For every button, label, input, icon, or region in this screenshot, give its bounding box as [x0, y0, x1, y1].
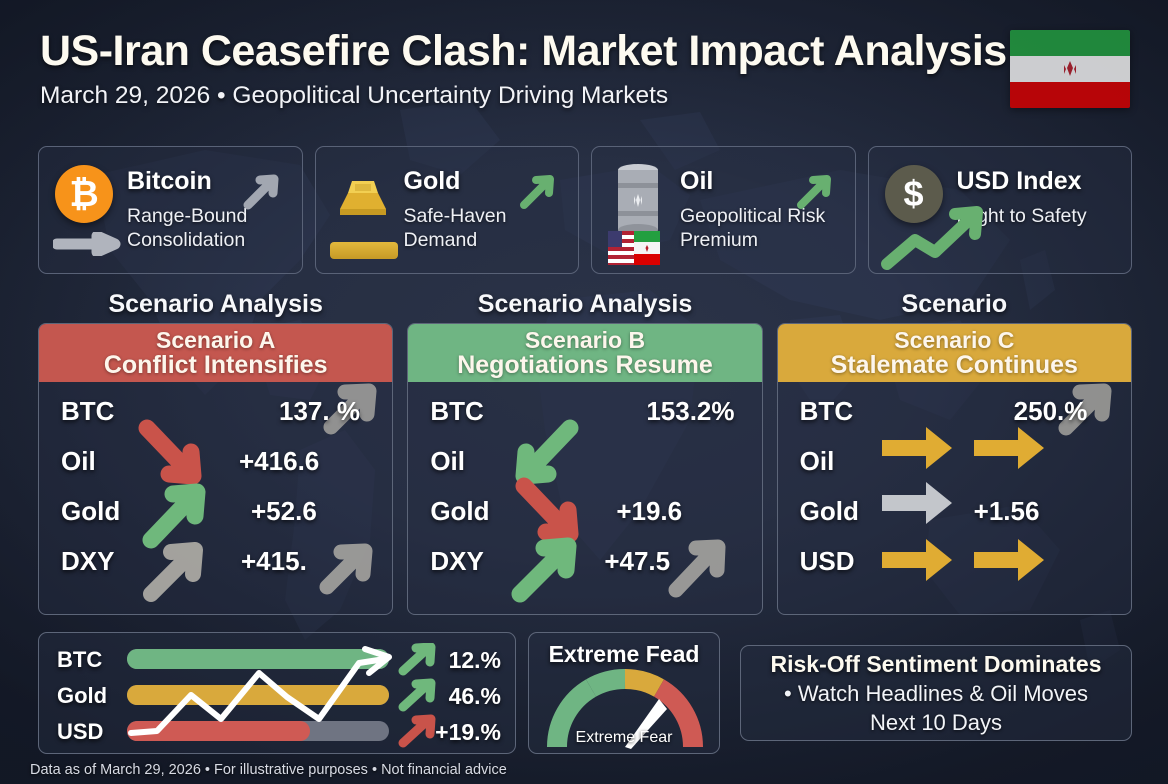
- scenario-head-line2: Conflict Intensifies: [104, 352, 328, 379]
- kpi-card-oil[interactable]: Oil Geopolitical Risk Premium: [591, 146, 856, 274]
- footer-disclaimer: Data as of March 29, 2026 • For illustra…: [30, 762, 507, 778]
- page-title: US-Iran Ceasefire Clash: Market Impact A…: [40, 28, 1130, 74]
- scenario-a-asset-1: Oil: [61, 446, 96, 477]
- arrow-up-right-icon: [789, 163, 841, 220]
- scenario-head-line2: Stalemate Continues: [831, 352, 1078, 379]
- scenario-header-a: Scenario A Conflict Intensifies: [39, 324, 392, 382]
- oil-barrel-icon: [610, 161, 666, 239]
- fear-greed-gauge-card[interactable]: Extreme Fead Extreme Fear: [528, 632, 720, 754]
- section-label-row: Scenario Analysis Scenario Analysis Scen…: [38, 290, 1132, 319]
- infographic-root: US-Iran Ceasefire Clash: Market Impact A…: [0, 0, 1168, 784]
- arrow-right-icon: [53, 232, 125, 261]
- scenario-head-line1: Scenario A: [156, 328, 275, 352]
- kpi-name: USD Index: [957, 167, 1082, 196]
- us-iran-flag-icon: [608, 231, 660, 265]
- note-line-1: • Watch Headlines & Oil Moves: [784, 681, 1088, 706]
- sentiment-note-card[interactable]: Risk-Off Sentiment Dominates • Watch Hea…: [740, 645, 1132, 741]
- kpi-name: Bitcoin: [127, 167, 212, 196]
- arrow-up-right-icon: [879, 202, 994, 274]
- header: US-Iran Ceasefire Clash: Market Impact A…: [40, 28, 1130, 110]
- chart-bar-track-btc: [127, 649, 389, 669]
- gauge-title: Extreme Fead: [529, 641, 719, 668]
- kpi-title-wrap: Oil: [680, 167, 713, 196]
- scenario-c-asset-3: USD: [800, 546, 855, 577]
- scenario-c-value-0: 250.%: [1014, 396, 1088, 427]
- section-label-c: Scenario: [777, 290, 1132, 319]
- kpi-name: Oil: [680, 167, 713, 196]
- scenario-body-c: BTC Oil Gold USD 250.% +1.56: [778, 382, 1131, 614]
- chart-bar-track-gold: [127, 685, 389, 705]
- scenario-b-asset-0: BTC: [430, 396, 483, 427]
- gold-bar-icon: [334, 169, 392, 221]
- section-label-a: Scenario Analysis: [38, 290, 393, 319]
- kpi-title-wrap: Bitcoin: [127, 167, 212, 196]
- scenario-b-value-0: 153.2%: [646, 396, 734, 427]
- scenario-body-a: BTC Oil Gold DXY 137. % +416.6 +52.6 +41…: [39, 382, 392, 614]
- chart-row-label-btc: BTC: [57, 647, 102, 673]
- scenario-head-line1: Scenario C: [894, 328, 1014, 352]
- scenario-c-asset-2: Gold: [800, 496, 859, 527]
- gauge-sub-label: Extreme Fear: [529, 729, 719, 747]
- scenario-head-line1: Scenario B: [525, 328, 645, 352]
- scenario-b-value-3: +47.5: [604, 546, 670, 577]
- scenario-b-asset-1: Oil: [430, 446, 465, 477]
- chart-row-label-usd: USD: [57, 719, 103, 745]
- bitcoin-icon: ₿: [55, 165, 113, 223]
- scenario-a-value-0: 137. %: [279, 396, 360, 427]
- scenario-row: Scenario A Conflict Intensifies BTC Oil …: [38, 323, 1132, 615]
- scenario-b-value-2: +19.6: [616, 496, 682, 527]
- kpi-card-bitcoin[interactable]: ₿ Bitcoin Range-Bound Consolidation: [38, 146, 303, 274]
- scenario-header-c: Scenario C Stalemate Continues: [778, 324, 1131, 382]
- scenario-b-asset-3: DXY: [430, 546, 483, 577]
- page-subtitle: March 29, 2026 • Geopolitical Uncertaint…: [40, 82, 1130, 110]
- scenario-a-value-2: +52.6: [251, 496, 317, 527]
- chart-row-label-gold: Gold: [57, 683, 107, 709]
- scenario-c-value-2: +1.56: [974, 496, 1040, 527]
- scenario-c-asset-1: Oil: [800, 446, 835, 477]
- scenario-c-asset-0: BTC: [800, 396, 853, 427]
- scenario-a-asset-0: BTC: [61, 396, 114, 427]
- scenario-b-asset-2: Gold: [430, 496, 489, 527]
- section-label-b: Scenario Analysis: [407, 290, 762, 319]
- scenario-a-value-1: +416.6: [239, 446, 319, 477]
- kpi-row: ₿ Bitcoin Range-Bound Consolidation: [38, 146, 1132, 274]
- scenario-card-b[interactable]: Scenario B Negotiations Resume BTC Oil G…: [407, 323, 762, 615]
- scenario-a-asset-2: Gold: [61, 496, 120, 527]
- chart-bar-fill-gold: [127, 685, 389, 705]
- scenario-a-value-3: +415.: [241, 546, 307, 577]
- kpi-title-wrap: USD Index: [957, 167, 1082, 196]
- note-heading: Risk-Off Sentiment Dominates: [771, 651, 1102, 678]
- chart-value-btc: 12.%: [449, 647, 501, 674]
- chart-bar-fill-btc: [127, 649, 389, 669]
- chart-bar-track-usd: [127, 721, 389, 741]
- kpi-name: Gold: [404, 167, 461, 196]
- kpi-card-usd-index[interactable]: $ USD Index Flight to Safety: [868, 146, 1133, 274]
- kpi-card-gold[interactable]: Gold Safe-Haven Demand: [315, 146, 580, 274]
- scenario-card-c[interactable]: Scenario C Stalemate Continues: [777, 323, 1132, 615]
- arrow-up-right-icon: [236, 163, 288, 220]
- scenario-head-line2: Negotiations Resume: [457, 352, 713, 379]
- scenario-card-a[interactable]: Scenario A Conflict Intensifies BTC Oil …: [38, 323, 393, 615]
- chart-value-usd: +19.%: [435, 719, 501, 746]
- chart-value-gold: 46.%: [449, 683, 501, 710]
- arrow-up-right-icon: [512, 163, 564, 220]
- note-line-2: Next 10 Days: [870, 710, 1002, 735]
- chart-bar-fill-usd: [127, 721, 310, 741]
- scenario-body-b: BTC Oil Gold DXY 153.2% +19.6 +47.5: [408, 382, 761, 614]
- kpi-title-wrap: Gold: [404, 167, 461, 196]
- scenario-a-asset-3: DXY: [61, 546, 114, 577]
- performance-chart-card[interactable]: BTC Gold USD 12.% 46.% +19.%: [38, 632, 516, 754]
- gold-bar-small-icon: [330, 242, 398, 259]
- scenario-header-b: Scenario B Negotiations Resume: [408, 324, 761, 382]
